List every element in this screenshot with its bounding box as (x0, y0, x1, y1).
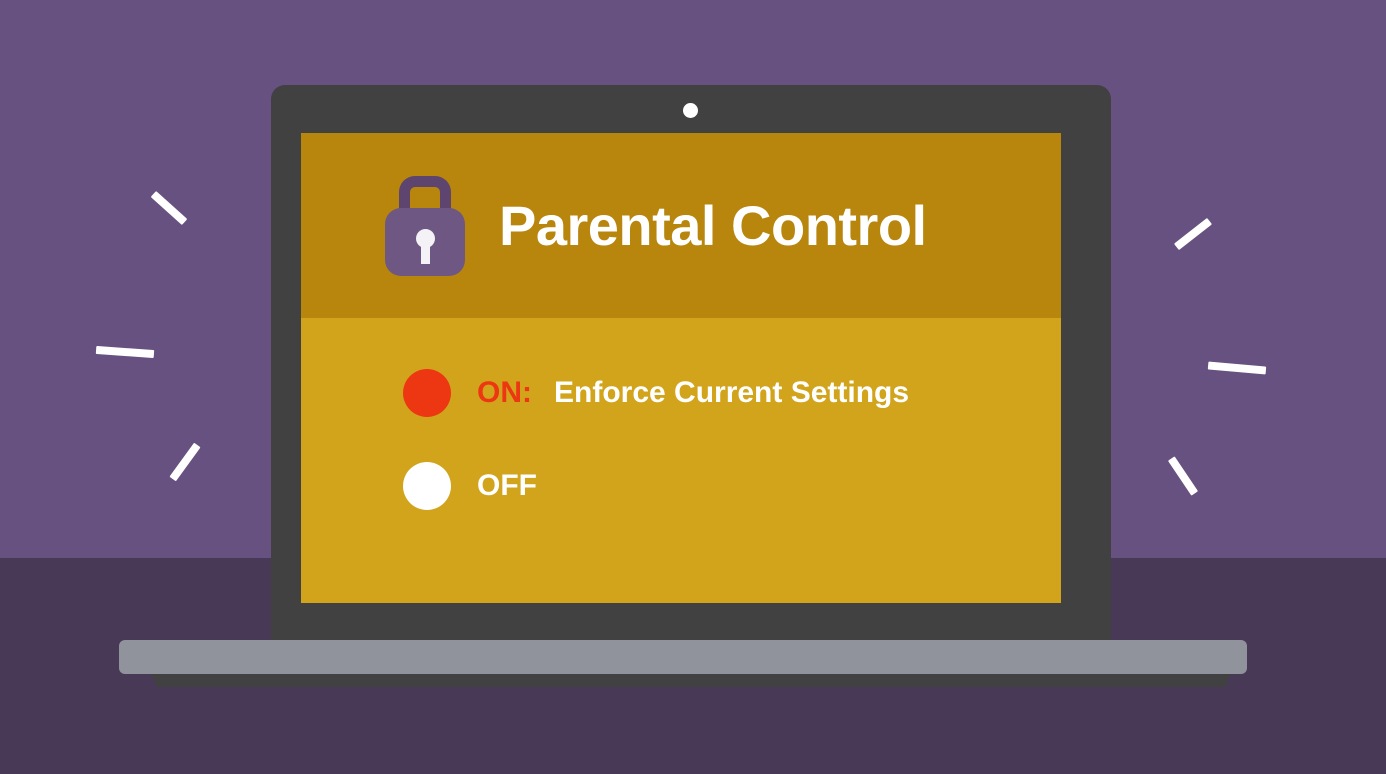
padlock-keyhole-stem (421, 242, 430, 264)
webcam-dot-icon (683, 103, 698, 118)
radio-option-off-state: OFF (477, 471, 537, 501)
laptop-keyboard-bar (119, 640, 1247, 674)
screen-header: Parental Control (301, 133, 1061, 318)
option-list: ON: Enforce Current Settings OFF (301, 318, 1061, 603)
scene: Parental Control ON: Enforce Current Set… (0, 0, 1386, 774)
radio-button-off-unselected[interactable] (403, 462, 451, 510)
page-title: Parental Control (499, 198, 927, 254)
radio-option-on-description: Enforce Current Settings (554, 378, 909, 408)
radio-button-on-selected[interactable] (403, 369, 451, 417)
radio-option-off[interactable]: OFF (301, 460, 1061, 512)
padlock-icon (385, 176, 465, 276)
laptop-illustration: Parental Control ON: Enforce Current Set… (0, 0, 1386, 774)
laptop-screen: Parental Control ON: Enforce Current Set… (301, 133, 1061, 603)
radio-option-on-state: ON: (477, 378, 532, 408)
radio-option-on[interactable]: ON: Enforce Current Settings (301, 367, 1061, 419)
